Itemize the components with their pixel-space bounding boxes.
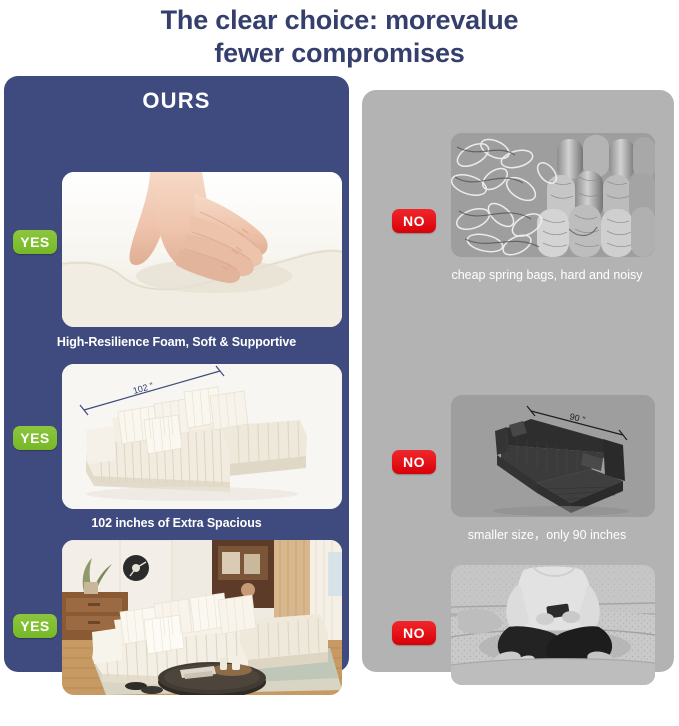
yes-badge-2: YES: [13, 426, 57, 450]
cream-sectional-sofa-dimension-photo: 102 ": [62, 364, 342, 509]
theirs-caption-3: Light and inexpensive, but weak support …: [422, 695, 672, 726]
living-room-sofa-scene-photo: [62, 540, 342, 695]
yes-badge-3: YES: [13, 614, 57, 638]
person-sinking-into-sofa-photo: [451, 565, 655, 685]
page-title: The clear choice: morevalue fewer compro…: [0, 0, 679, 70]
theirs-rows: NO: [362, 90, 674, 694]
no-badge-1: NO: [392, 209, 436, 233]
theirs-caption-1: cheap spring bags, hard and noisy: [422, 268, 672, 284]
yes-badge-1: YES: [13, 230, 57, 254]
ours-panel-title: OURS: [4, 88, 349, 114]
ours-caption-2: 102 inches of Extra Spacious: [4, 516, 349, 530]
ours-caption-3: 1000-lb sofa with superior load-bearing …: [4, 702, 349, 716]
comparison-area: OURS YES: [0, 76, 679, 680]
pocket-spring-bags-photo: [451, 133, 655, 257]
ours-caption-1: High-Resilience Foam, Soft & Supportive: [4, 335, 349, 349]
no-badge-2: NO: [392, 450, 436, 474]
page-title-line-2: fewer compromises: [0, 37, 679, 70]
page-title-line-1: The clear choice: morevalue: [0, 4, 679, 37]
theirs-caption-3-line-2: support and easily sinks.: [479, 711, 616, 725]
theirs-caption-2: smaller size，only 90 inches: [422, 528, 672, 544]
ours-rows: YES: [4, 122, 349, 126]
hand-pressing-foam-photo: [62, 172, 342, 327]
no-badge-3: NO: [392, 621, 436, 645]
theirs-caption-3-line-1: Light and inexpensive, but weak: [458, 695, 636, 709]
dark-sectional-sofa-dimension-photo: 90 ": [451, 395, 655, 517]
